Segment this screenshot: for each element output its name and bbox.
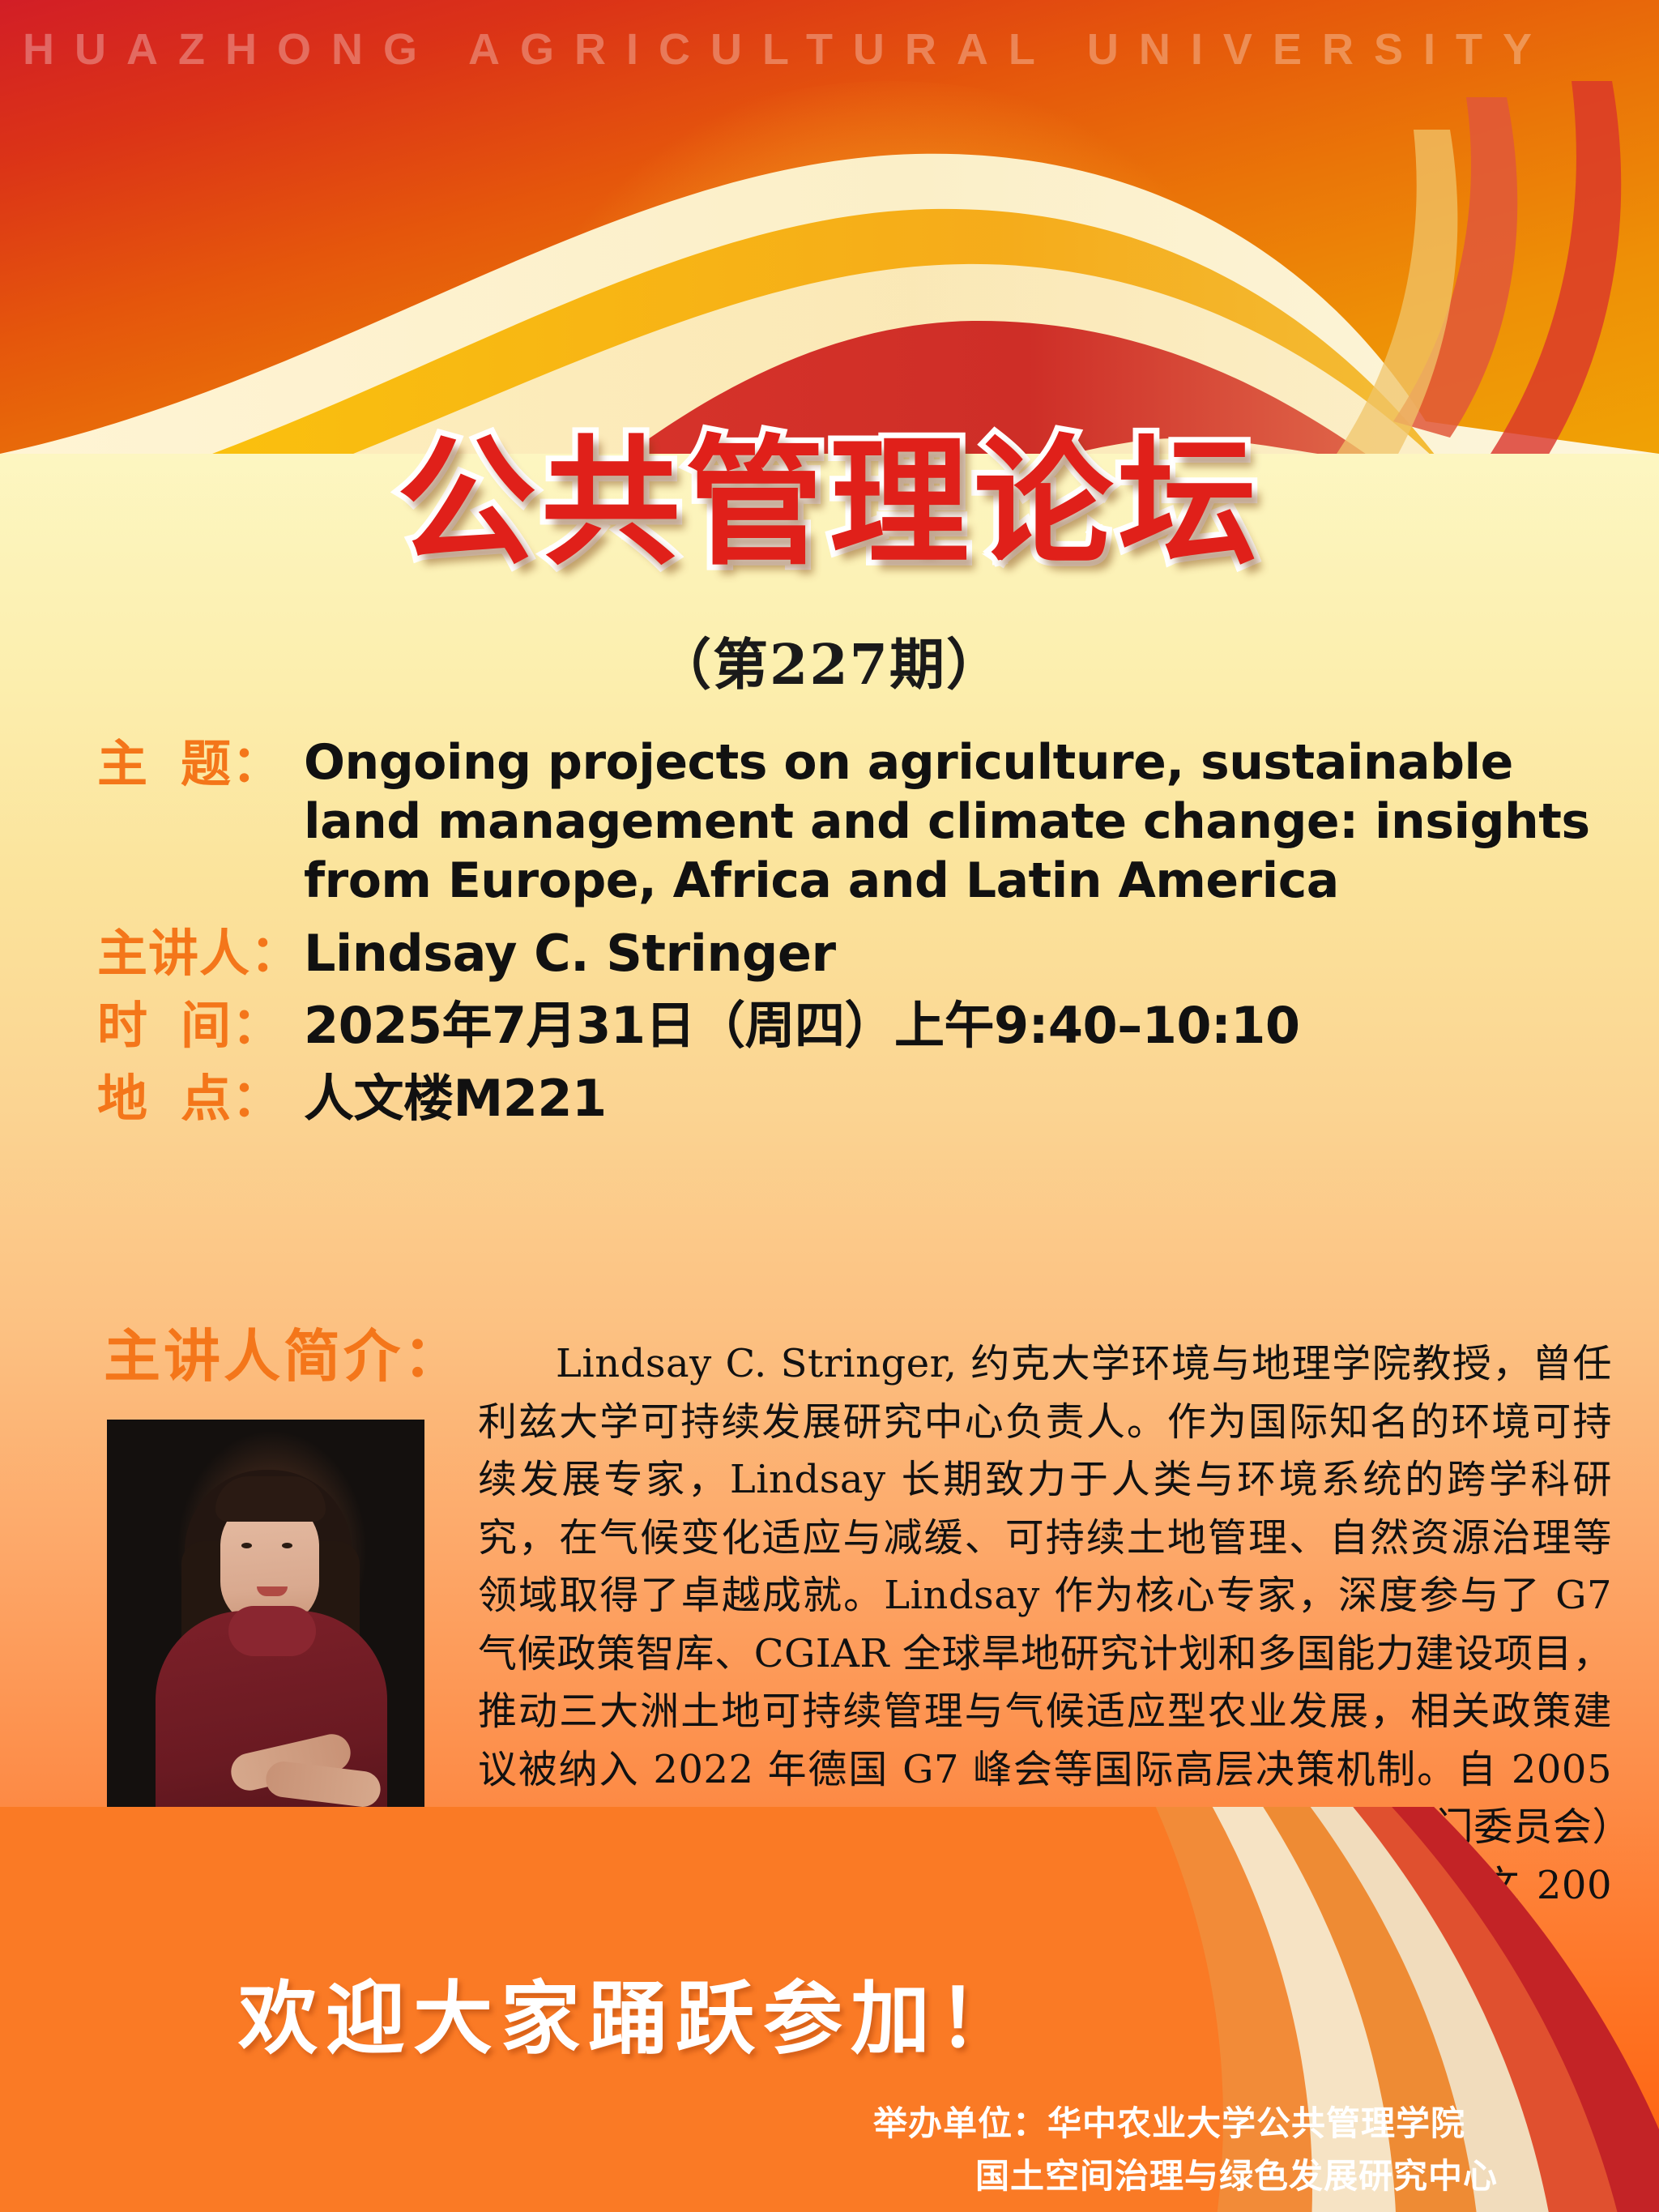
university-name-watermark: HUAZHONG AGRICULTURAL UNIVERSITY <box>23 24 1635 75</box>
poster-canvas: HUAZHONG AGRICULTURAL UNIVERSITY 公共管理论坛 … <box>0 0 1659 2212</box>
topic-label: 主题： <box>97 733 304 795</box>
portrait-mouth <box>257 1586 288 1596</box>
info-row-location: 地点： 人文楼M221 <box>97 1068 1604 1129</box>
info-row-speaker: 主讲人： Lindsay C. Stringer <box>97 923 1604 984</box>
time-label-b: 间： <box>181 996 283 1055</box>
issue-number: （第227期） <box>0 620 1659 700</box>
location-label: 地点： <box>97 1068 304 1129</box>
bio-heading: 主讲人简介： <box>104 1311 463 1393</box>
location-label-b: 点： <box>181 1069 283 1128</box>
info-row-topic: 主题： Ongoing projects on agriculture, sus… <box>97 733 1604 912</box>
page-title: 公共管理论坛 <box>0 433 1659 573</box>
info-row-time: 时间： 2025年7月31日（周四）上午9:40–10:10 <box>97 995 1604 1057</box>
speaker-portrait-photo <box>107 1420 424 1857</box>
header-banner: HUAZHONG AGRICULTURAL UNIVERSITY <box>0 0 1659 454</box>
organizer-line-1: 举办单位：华中农业大学公共管理学院 <box>873 2097 1602 2150</box>
time-label-a: 时 <box>97 996 148 1055</box>
speaker-label: 主讲人： <box>97 923 304 984</box>
location-value: 人文楼M221 <box>304 1068 1604 1129</box>
topic-label-b: 题： <box>181 734 283 793</box>
organizer-footer: 举办单位：华中农业大学公共管理学院 国土空间治理与绿色发展研究中心 <box>873 2097 1602 2202</box>
event-info-block: 主题： Ongoing projects on agriculture, sus… <box>97 733 1604 1140</box>
topic-value: Ongoing projects on agriculture, sustain… <box>304 733 1604 912</box>
time-value: 2025年7月31日（周四）上午9:40–10:10 <box>304 995 1604 1057</box>
welcome-message: 欢迎大家踊跃参加！ <box>0 1954 1264 2069</box>
portrait-collar <box>228 1606 316 1656</box>
topic-label-a: 主 <box>97 734 148 793</box>
speaker-label-b: ： <box>250 924 301 983</box>
speaker-label-a: 主讲人 <box>97 924 250 983</box>
portrait-fringe <box>215 1476 326 1522</box>
location-label-a: 地 <box>97 1069 148 1128</box>
portrait-eye-right <box>282 1543 292 1548</box>
speaker-value: Lindsay C. Stringer <box>304 923 1604 984</box>
portrait-eye-left <box>241 1543 252 1548</box>
time-label: 时间： <box>97 995 304 1057</box>
organizer-line-2: 国土空间治理与绿色发展研究中心 <box>873 2150 1602 2202</box>
